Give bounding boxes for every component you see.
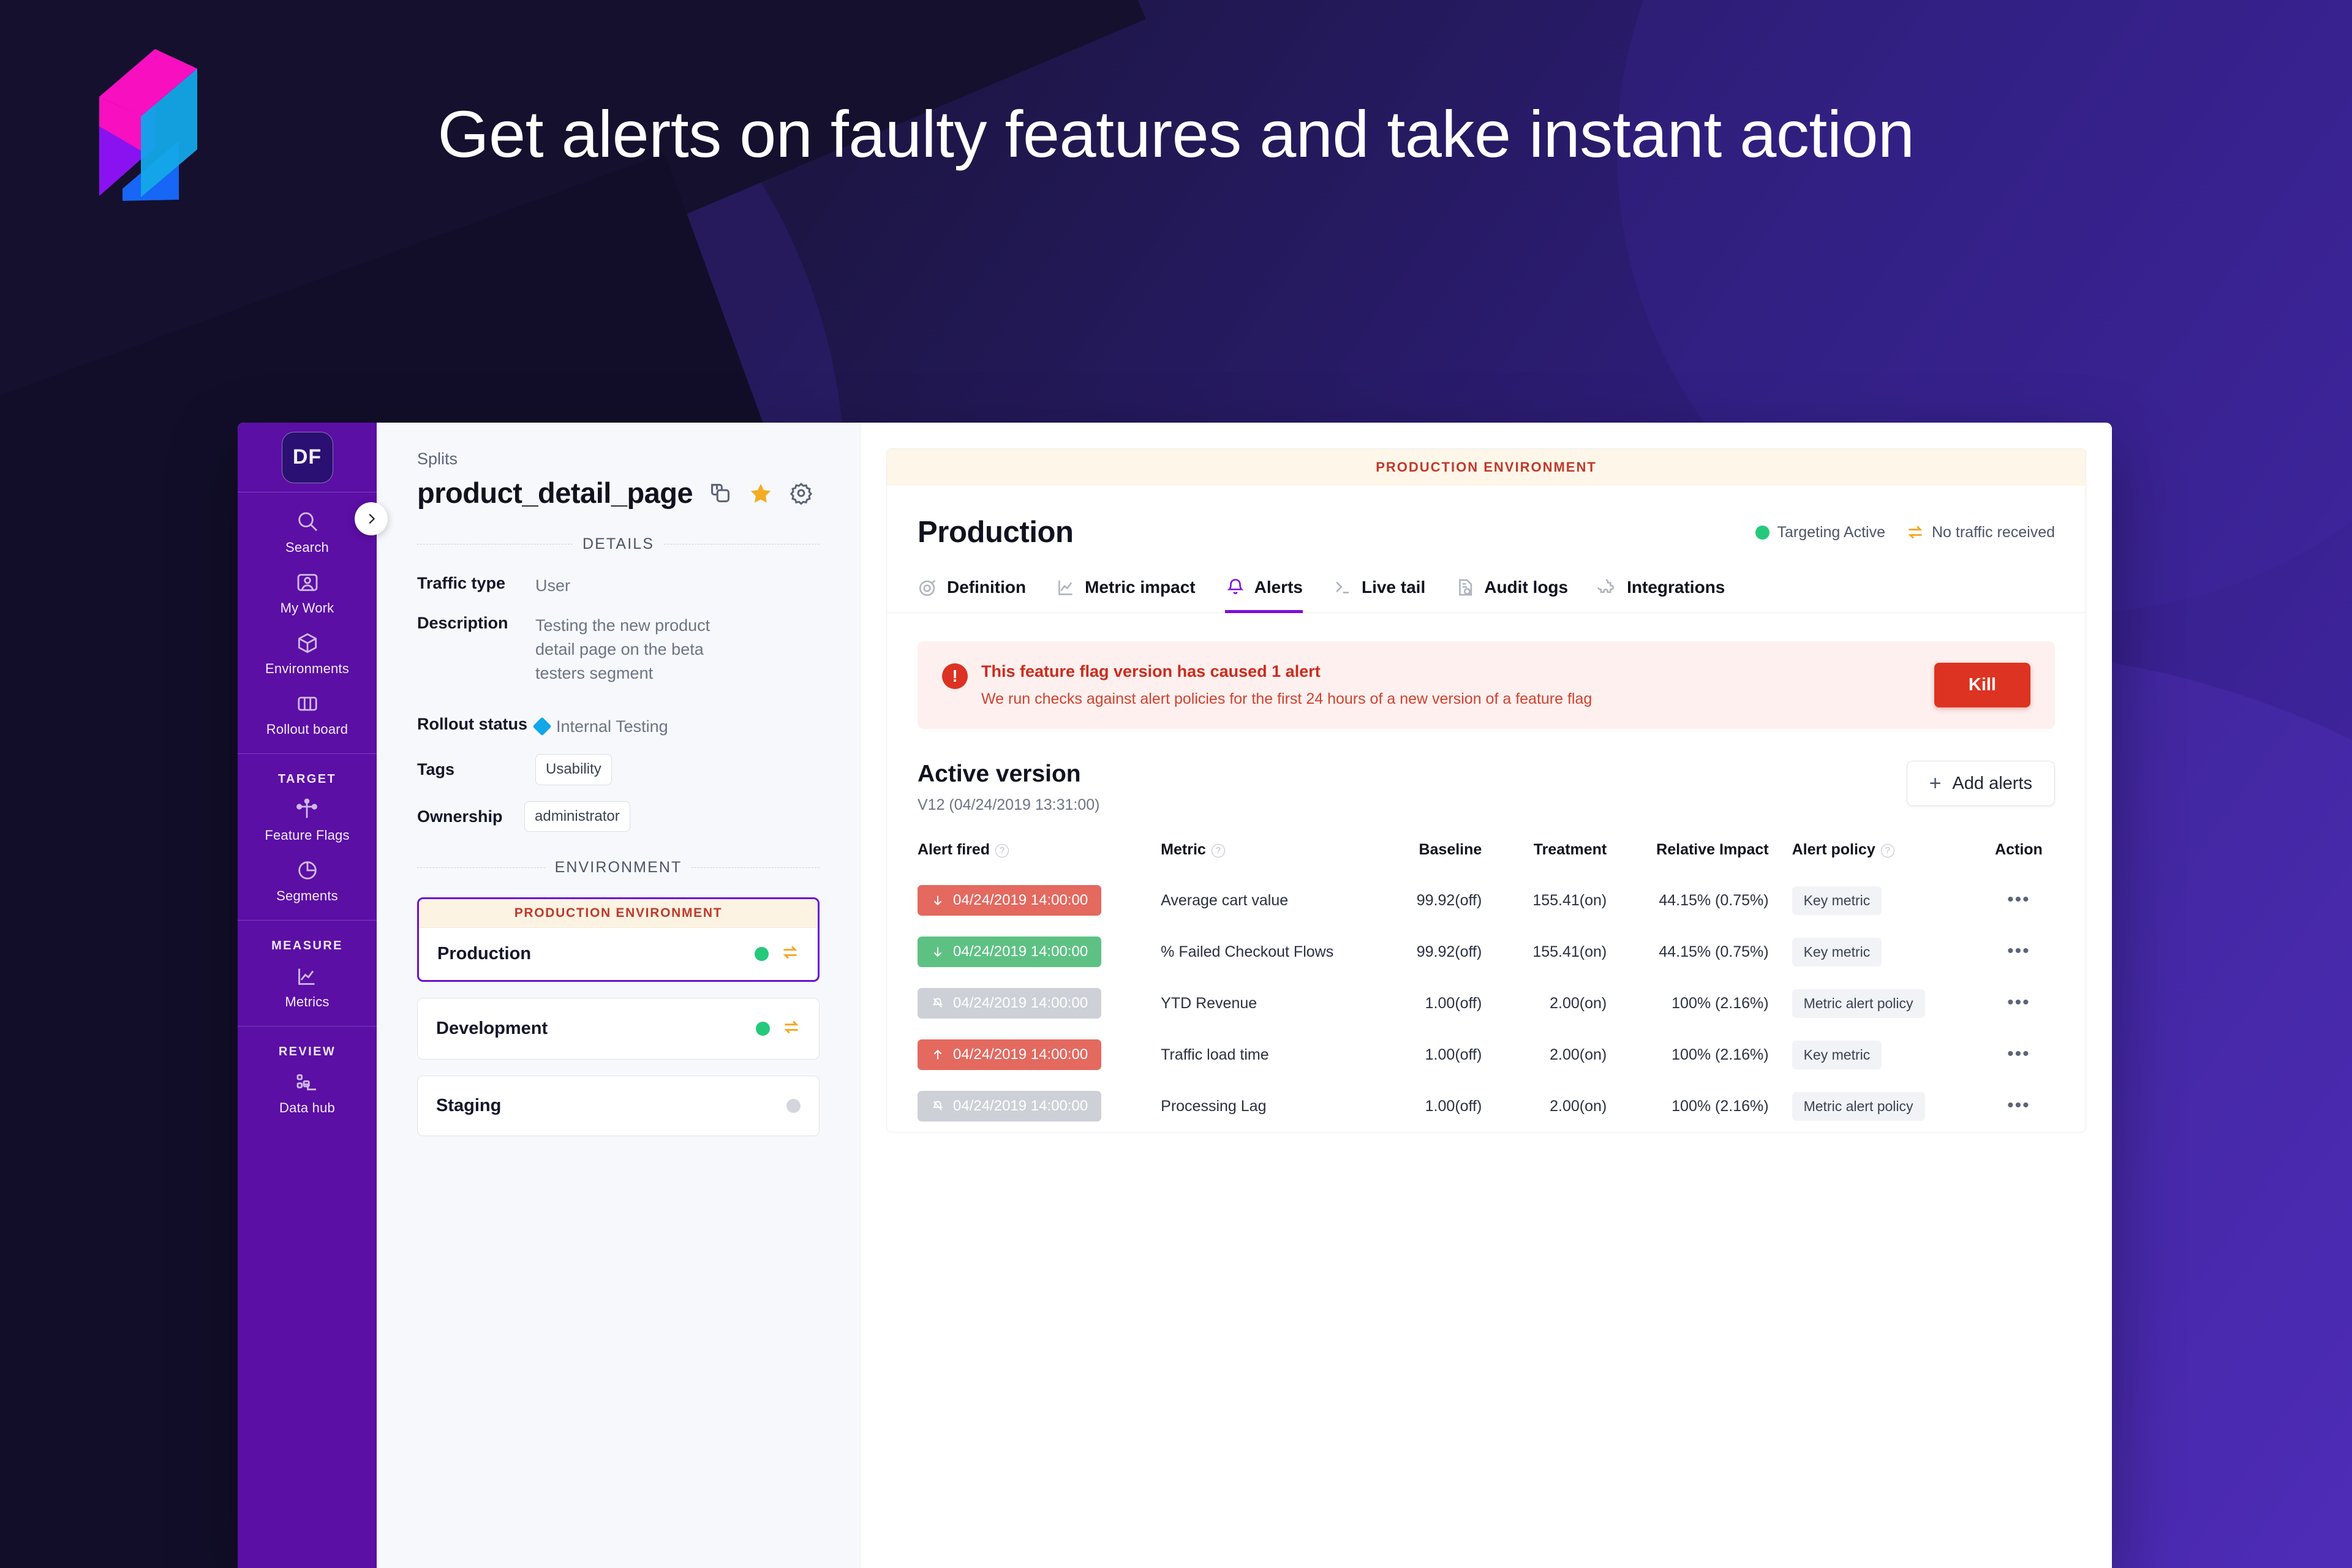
cell-baseline: 99.92(off) [1378,875,1502,926]
row-actions-menu-icon[interactable]: ••• [2007,1095,2030,1115]
bell-icon [1225,577,1246,598]
active-version-header: Active version V12 (04/24/2019 13:31:00)… [887,729,2086,814]
field-rollout-status: Rollout status Internal Testing [417,715,820,739]
tab-label: Live tail [1362,578,1425,597]
column-header-alert-policy: Alert policy? [1792,841,1983,875]
row-actions-menu-icon[interactable]: ••• [2007,941,2030,961]
alert-policy-chip: Key metric [1792,886,1882,915]
sidebar-item-segments[interactable]: Segments [276,857,338,904]
alert-fired-pill: 04/24/2019 14:00:00 [918,1039,1101,1070]
kill-button[interactable]: Kill [1934,663,2030,707]
sidebar-section-label: MEASURE [271,939,343,953]
alert-fired-pill: 04/24/2019 14:00:00 [918,937,1101,967]
main-panel: PRODUCTION ENVIRONMENT Production Target… [861,423,2112,1568]
field-label: Traffic type [417,574,535,598]
cell-baseline: 1.00(off) [1378,978,1502,1029]
cell-treatment: 2.00(on) [1502,1080,1627,1132]
column-header-treatment: Treatment [1502,841,1627,875]
breadcrumb[interactable]: Splits [417,450,820,469]
cell-metric: Average cart value [1161,875,1378,926]
swap-arrows-icon [781,943,799,965]
column-header-alert-fired: Alert fired? [918,841,1161,875]
sidebar-item-label: Metrics [285,994,329,1010]
help-icon[interactable]: ? [995,844,1009,858]
table-row[interactable]: 04/24/2019 14:00:00 Average cart value 9… [918,875,2055,926]
alert-policy-chip: Key metric [1792,938,1882,967]
environment-status-group: Targeting Active No traffic received [1755,523,2055,541]
document-search-icon [1455,577,1476,598]
sidebar-item-label: Rollout board [266,722,348,737]
row-actions-menu-icon[interactable]: ••• [2007,889,2030,910]
chart-icon [293,963,320,990]
environment-detail-card: PRODUCTION ENVIRONMENT Production Target… [886,448,2086,1133]
split-title-row: product_detail_page [417,476,820,510]
tab-metric-impact[interactable]: Metric impact [1055,577,1196,613]
cell-baseline: 1.00(off) [1378,1080,1502,1132]
field-value: User [535,574,570,598]
sidebar-item-metrics[interactable]: Metrics [285,963,329,1010]
sidebar: DF Search My Work Environments [238,423,377,1568]
sidebar-item-label: Data hub [279,1100,335,1116]
sidebar-item-label: Environments [265,661,349,677]
table-row[interactable]: 04/24/2019 14:00:00 Traffic load time 1.… [918,1029,2055,1080]
cell-baseline: 1.00(off) [1378,1029,1502,1080]
cell-metric: % Failed Checkout Flows [1161,926,1378,978]
environment-name: Staging [436,1096,501,1116]
cell-relative-impact: 100% (2.16%) [1627,1080,1792,1132]
environment-name: Development [436,1019,548,1039]
environment-card-staging[interactable]: Staging [417,1076,820,1136]
green-dot-icon [1755,526,1770,540]
flags-icon [293,796,320,823]
tag-chip[interactable]: Usability [535,754,612,785]
status-dot-active-icon [756,1022,770,1036]
cell-metric: YTD Revenue [1161,978,1378,1029]
environment-title: Production [918,515,1074,549]
environment-name: Production [437,944,531,964]
alert-policy-chip: Metric alert policy [1792,989,1925,1018]
column-header-action: Action [1983,841,2055,875]
status-targeting-active: Targeting Active [1755,524,1885,541]
cell-relative-impact: 44.15% (0.75%) [1627,875,1792,926]
arrow-up-icon [931,1047,944,1062]
bell-muted-icon [931,996,944,1011]
tab-bar: Definition Metric impact Alerts Live tai… [887,576,2086,613]
sidebar-section-label: REVIEW [279,1045,336,1059]
exclamation-circle-icon: ! [942,663,968,689]
cell-relative-impact: 44.15% (0.75%) [1627,926,1792,978]
star-icon[interactable] [748,480,774,506]
sidebar-item-label: Feature Flags [265,827,349,843]
sidebar-group-main: Search My Work Environments Rollout boar… [238,492,377,754]
add-alerts-button[interactable]: + Add alerts [1907,761,2055,806]
alert-fired-pill: 04/24/2019 14:00:00 [918,1091,1101,1121]
alerts-table: Alert fired? Metric? Baseline Treatment … [918,841,2055,1132]
sidebar-collapse-button[interactable] [355,502,388,535]
row-actions-menu-icon[interactable]: ••• [2007,992,2030,1012]
tab-alerts[interactable]: Alerts [1225,577,1303,613]
sidebar-item-label: Search [285,540,329,556]
sidebar-group-measure: MEASURE Metrics [238,921,377,1027]
cell-relative-impact: 100% (2.16%) [1627,1029,1792,1080]
sidebar-group-target: TARGET Feature Flags Segments [238,754,377,921]
row-actions-menu-icon[interactable]: ••• [2007,1044,2030,1064]
my-work-icon [294,569,321,596]
sidebar-item-label: Segments [276,888,338,904]
table-row[interactable]: 04/24/2019 14:00:00 YTD Revenue 1.00(off… [918,978,2055,1029]
field-tags: Tags Usability [417,754,820,785]
owner-chip[interactable]: administrator [524,801,630,832]
sidebar-section-label: TARGET [278,772,336,786]
tab-integrations[interactable]: Integrations [1597,577,1725,613]
tab-live-tail[interactable]: Live tail [1332,577,1425,613]
alert-fired-pill: 04/24/2019 14:00:00 [918,885,1101,916]
app-window: DF Search My Work Environments [238,423,2112,1568]
column-header-metric: Metric? [1161,841,1378,875]
search-icon [294,508,321,535]
cell-baseline: 99.92(off) [1378,926,1502,978]
tab-label: Definition [947,578,1026,597]
cell-treatment: 2.00(on) [1502,1029,1627,1080]
details-section-divider: DETAILS [417,535,820,553]
cell-metric: Traffic load time [1161,1029,1378,1080]
arrow-down-icon [931,944,944,959]
environment-banner: PRODUCTION ENVIRONMENT [419,899,818,928]
alert-policy-chip: Metric alert policy [1792,1092,1925,1121]
add-alerts-label: Add alerts [1952,774,2032,794]
tab-label: Integrations [1627,578,1725,597]
sidebar-item-label: My Work [281,600,334,616]
alert-policy-chip: Key metric [1792,1041,1882,1069]
sidebar-group-review: REVIEW Data hub [238,1027,377,1132]
field-value: Internal Testing [556,717,668,736]
table-row[interactable]: 04/24/2019 14:00:00 Processing Lag 1.00(… [918,1080,2055,1132]
field-description: Description Testing the new product deta… [417,614,820,685]
split-name: product_detail_page [417,476,693,510]
swap-arrows-icon [782,1018,801,1039]
field-value: Testing the new product detail page on t… [535,614,731,685]
sidebar-item-data-hub[interactable]: Data hub [279,1069,335,1116]
split-logo [67,36,227,201]
environment-card-development[interactable]: Development [417,998,820,1060]
tab-label: Audit logs [1484,578,1568,597]
plus-icon: + [1929,773,1942,794]
status-label: No traffic received [1932,524,2055,541]
field-traffic-type: Traffic type User [417,574,820,598]
page-title: Get alerts on faulty features and take i… [318,92,2034,176]
cell-treatment: 155.41(on) [1502,926,1627,978]
tab-label: Metric impact [1085,578,1196,597]
cell-treatment: 155.41(on) [1502,875,1627,926]
bell-muted-icon [931,1099,944,1114]
details-panel: Splits product_detail_page [377,423,861,1568]
column-header-baseline: Baseline [1378,841,1502,875]
swap-arrows-icon [1906,523,1924,541]
field-ownership: Ownership administrator [417,801,820,832]
help-icon[interactable]: ? [1881,844,1894,858]
avatar-container: DF [238,423,377,492]
sidebar-item-rollout-board[interactable]: Rollout board [266,690,348,737]
environment-card-production[interactable]: PRODUCTION ENVIRONMENT Production [417,897,820,982]
tab-audit-logs[interactable]: Audit logs [1455,577,1568,613]
field-label: Rollout status [417,715,535,739]
copy-icon[interactable] [707,480,733,506]
terminal-icon [1332,577,1353,598]
status-dot-inactive-icon [786,1099,801,1113]
cell-relative-impact: 100% (2.16%) [1627,978,1792,1029]
target-icon [918,577,938,598]
cube-icon [294,630,321,657]
gear-icon[interactable] [788,480,814,506]
tab-label: Alerts [1254,578,1303,597]
rollout-status-diamond-icon [532,717,551,736]
environment-header: Production Targeting Active No traffic r… [887,486,2086,549]
status-label: Targeting Active [1777,524,1885,541]
pie-icon [294,857,321,884]
field-label: Ownership [417,807,535,826]
alert-banner-title: This feature flag version has caused 1 a… [981,662,1592,681]
status-dot-active-icon [755,947,769,961]
chevron-right-icon [364,512,378,526]
active-version-subtitle: V12 (04/24/2019 13:31:00) [918,796,1099,814]
arrow-down-icon [931,893,944,908]
sidebar-item-environments[interactable]: Environments [265,630,349,677]
alert-banner: ! This feature flag version has caused 1… [918,641,2055,729]
data-hub-icon [293,1069,320,1096]
table-header-row: Alert fired? Metric? Baseline Treatment … [918,841,2055,875]
alert-banner-subtitle: We run checks against alert policies for… [981,690,1592,708]
sidebar-item-feature-flags[interactable]: Feature Flags [265,796,349,843]
status-no-traffic: No traffic received [1906,523,2055,541]
environment-section-label: ENVIRONMENT [555,859,682,876]
line-chart-icon [1055,577,1076,598]
details-section-label: DETAILS [582,535,654,553]
field-label: Description [417,614,535,685]
table-row[interactable]: 04/24/2019 14:00:00 % Failed Checkout Fl… [918,926,2055,978]
production-environment-banner: PRODUCTION ENVIRONMENT [887,449,2086,486]
help-icon[interactable]: ? [1212,844,1225,858]
puzzle-icon [1597,577,1618,598]
tab-definition[interactable]: Definition [918,577,1026,613]
field-label: Tags [417,760,535,779]
sidebar-item-search[interactable]: Search [285,508,329,556]
environment-section-divider: ENVIRONMENT [417,859,820,876]
cell-treatment: 2.00(on) [1502,978,1627,1029]
column-header-relative-impact: Relative Impact [1627,841,1792,875]
cell-metric: Processing Lag [1161,1080,1378,1132]
alert-fired-pill: 04/24/2019 14:00:00 [918,988,1101,1019]
active-version-title: Active version [918,761,1099,788]
sidebar-item-my-work[interactable]: My Work [281,569,334,616]
avatar[interactable]: DF [282,432,333,483]
board-icon [294,690,321,717]
